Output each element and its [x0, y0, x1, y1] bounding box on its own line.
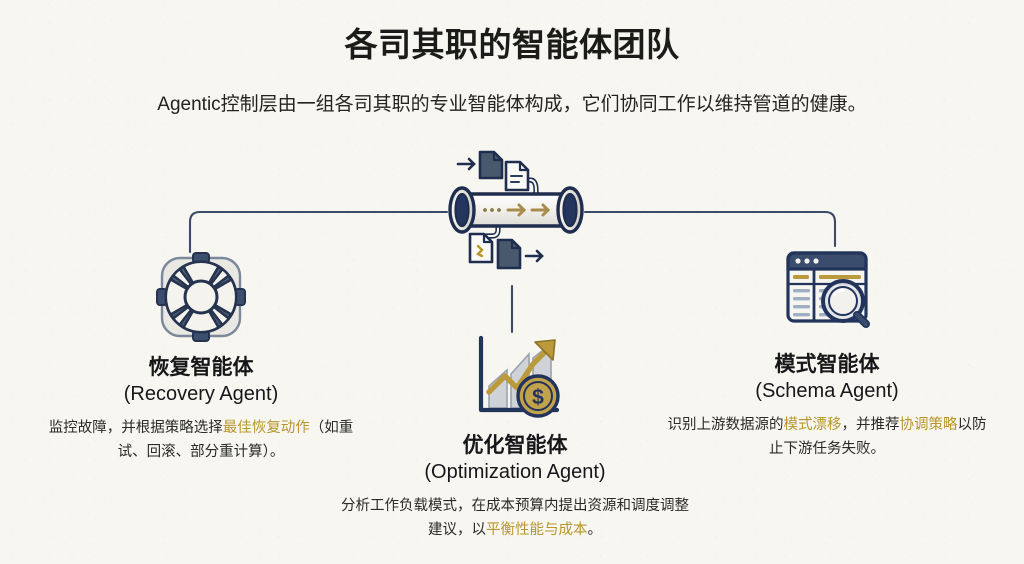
agent-name-cn: 优化智能体: [339, 432, 691, 459]
growth-chart-dollar-icon: $: [467, 330, 563, 422]
lifebuoy-icon: [154, 250, 248, 344]
agent-node-optimization: $ 优化智能体 (Optimization Agent) 分析工作负载模式，在成…: [339, 330, 691, 542]
highlighted-phrase: 平衡性能与成本: [486, 522, 588, 538]
agent-name-en: (Optimization Agent): [339, 459, 691, 486]
agent-name-cn: 模式智能体: [662, 351, 992, 378]
agent-name-en: (Schema Agent): [662, 378, 992, 405]
svg-text:$: $: [532, 386, 544, 409]
agent-description: 分析工作负载模式，在成本预算内提出资源和调度调整建议，以平衡性能与成本。: [339, 495, 691, 542]
data-pipeline-icon: [436, 138, 596, 280]
highlighted-phrase: 协调策略: [900, 417, 958, 433]
agent-node-recovery: 恢复智能体 (Recovery Agent) 监控故障，并根据策略选择最佳恢复动…: [36, 250, 366, 464]
agent-description: 监控故障，并根据策略选择最佳恢复动作（如重试、回滚、部分重计算）。: [36, 417, 366, 464]
highlighted-phrase: 模式漂移: [784, 417, 842, 433]
highlighted-phrase: 最佳恢复动作: [223, 420, 310, 436]
agent-name-en: (Recovery Agent): [36, 381, 366, 408]
description-text: 识别上游数据源的: [668, 417, 784, 433]
description-text: 。: [588, 522, 603, 538]
agent-name-cn: 恢复智能体: [36, 354, 366, 381]
table-magnifier-icon: [780, 243, 874, 337]
diagram-stage: 各司其职的智能体团队 Agentic控制层由一组各司其职的专业智能体构成，它们协…: [0, 0, 1024, 564]
agent-description: 识别上游数据源的模式漂移，并推荐协调策略以防止下游任务失败。: [662, 414, 992, 461]
agent-node-schema: 模式智能体 (Schema Agent) 识别上游数据源的模式漂移，并推荐协调策…: [662, 243, 992, 461]
description-text: 监控故障，并根据策略选择: [49, 420, 223, 436]
description-text: ，并推荐: [842, 417, 900, 433]
